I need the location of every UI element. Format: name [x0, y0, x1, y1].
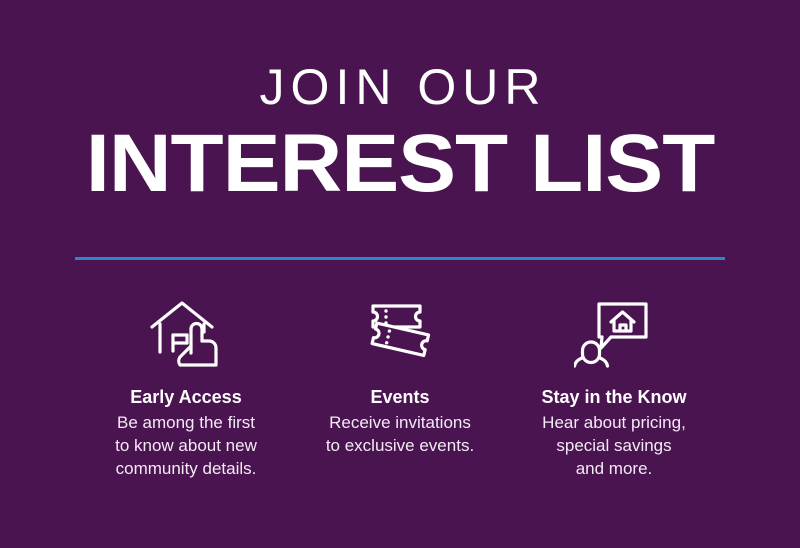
feature-description-line: Be among the first	[79, 411, 293, 434]
feature-title: Stay in the Know	[507, 386, 721, 408]
feature-title: Early Access	[79, 386, 293, 408]
feature-description: Receive invitations to exclusive events.	[293, 411, 507, 457]
feature-description-line: to exclusive events.	[293, 434, 507, 457]
feature-description: Hear about pricing, special savings and …	[507, 411, 721, 480]
feature-item-stay-in-the-know: Stay in the Know Hear about pricing, spe…	[507, 296, 721, 480]
accent-divider-rule	[75, 257, 725, 260]
feature-list: Early Access Be among the first to know …	[0, 296, 800, 480]
feature-item-events: Events Receive invitations to exclusive …	[293, 296, 507, 457]
page-title: INTEREST LIST	[0, 122, 800, 206]
interest-list-promo-banner: JOIN OUR INTEREST LIST	[0, 0, 800, 548]
house-with-pointing-hand-icon	[79, 296, 293, 374]
person-with-house-speech-bubble-icon	[507, 296, 721, 374]
feature-description-line: Hear about pricing,	[507, 411, 721, 434]
feature-description-line: Receive invitations	[293, 411, 507, 434]
two-tickets-icon	[293, 296, 507, 374]
hero-heading-group: JOIN OUR INTEREST LIST	[0, 58, 800, 206]
feature-description: Be among the first to know about new com…	[79, 411, 293, 480]
hero-eyebrow: JOIN OUR	[0, 58, 800, 116]
feature-item-early-access: Early Access Be among the first to know …	[79, 296, 293, 480]
feature-description-line: and more.	[507, 457, 721, 480]
feature-description-line: community details.	[79, 457, 293, 480]
feature-description-line: special savings	[507, 434, 721, 457]
feature-description-line: to know about new	[79, 434, 293, 457]
feature-title: Events	[293, 386, 507, 408]
